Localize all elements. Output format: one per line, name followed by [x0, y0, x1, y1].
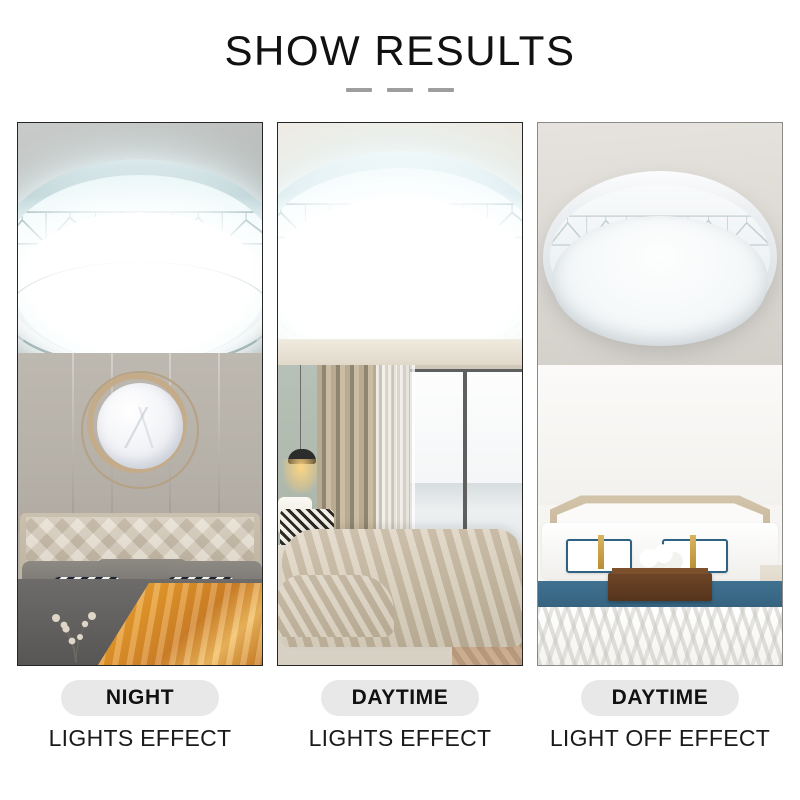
caption-row: NIGHT LIGHTS EFFECT DAYTIME LIGHTS EFFEC…: [17, 680, 783, 770]
ceiling-light-fixture-on: [277, 151, 523, 366]
duvet-fold: [277, 575, 394, 637]
status-badge-daytime-on: DAYTIME: [321, 680, 479, 716]
balcony-railing: [398, 483, 522, 510]
result-panel-night-lights-effect[interactable]: [17, 122, 263, 666]
ceiling-light-fixture-off: [543, 171, 777, 343]
textured-white-bedskirt: [538, 607, 782, 665]
ceiling-light-fixture-on: [17, 159, 263, 364]
wall-groove: [218, 353, 220, 531]
scene-night-lights-effect: [18, 123, 262, 665]
round-marble-wall-art: [81, 371, 199, 489]
bedroom-scene: [278, 365, 522, 665]
scene-daytime-light-off-effect: [538, 123, 782, 665]
caption-text-daytime-on: LIGHTS EFFECT: [277, 725, 523, 752]
result-panel-daytime-light-off-effect[interactable]: [537, 122, 783, 666]
header: SHOW RESULTS: [0, 0, 800, 112]
show-results-page: SHOW RESULTS: [0, 0, 800, 800]
divider-dash-3: [428, 88, 454, 92]
pendant-lamp-cord: [300, 365, 301, 451]
result-panel-daytime-lights-effect[interactable]: [277, 122, 523, 666]
bedroom-scene: [18, 353, 262, 665]
title-divider: [0, 88, 800, 92]
marble-disc: [97, 383, 183, 469]
divider-dash-1: [346, 88, 372, 92]
page-title: SHOW RESULTS: [0, 28, 800, 74]
caption-night-lights-effect: NIGHT LIGHTS EFFECT: [17, 680, 263, 770]
gold-tassel: [598, 535, 604, 569]
status-badge-daytime-off: DAYTIME: [581, 680, 739, 716]
fixture-unlit-diffuser: [552, 216, 767, 347]
bedroom-scene: [538, 365, 782, 665]
results-gallery: [17, 122, 783, 666]
divider-dash-2: [387, 88, 413, 92]
dried-flower-stems: [42, 601, 112, 663]
pendant-lamp-glow: [283, 459, 319, 493]
caption-text-night: LIGHTS EFFECT: [17, 725, 263, 752]
caption-text-daytime-off: LIGHT OFF EFFECT: [537, 725, 783, 752]
wall-groove: [72, 353, 74, 531]
gold-tassel: [690, 535, 696, 569]
white-wall: [538, 365, 782, 505]
scene-daytime-lights-effect: [278, 123, 522, 665]
status-badge-night: NIGHT: [61, 680, 219, 716]
caption-daytime-lights-effect: DAYTIME LIGHTS EFFECT: [277, 680, 523, 770]
wooden-serving-tray: [608, 573, 712, 601]
caption-daytime-light-off-effect: DAYTIME LIGHT OFF EFFECT: [537, 680, 783, 770]
